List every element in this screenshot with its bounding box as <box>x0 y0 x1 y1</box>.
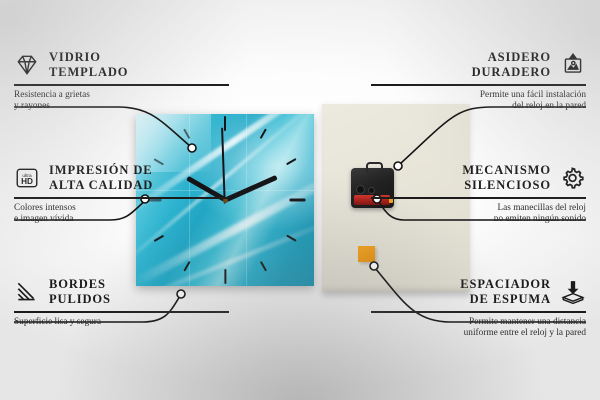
diamond-icon <box>14 52 40 78</box>
foam-spacer-pad <box>358 246 375 262</box>
feature-description: Colores intensos e imagen vívida <box>14 203 229 226</box>
feature-title-line2: PULIDOS <box>49 292 111 307</box>
feature-mecanismo-silencioso: MECANISMO SILENCIOSO Las manecillas del … <box>371 163 586 226</box>
feature-espaciador-de-espuma: ESPACIADOR DE ESPUMA Permite mantener un… <box>371 277 586 340</box>
feature-divider <box>14 311 229 313</box>
polished-edges-icon <box>14 279 40 305</box>
mechanism-knob <box>356 185 365 194</box>
feature-desc-line1: Colores intensos <box>14 203 229 215</box>
feature-asidero-duradero: ASIDERO DURADERO Permite una fácil insta… <box>371 50 586 113</box>
feature-title: VIDRIO TEMPLADO <box>49 50 128 80</box>
feature-title: BORDES PULIDOS <box>49 277 111 307</box>
clock-tick <box>224 116 226 131</box>
feature-desc-line1: Superficie lisa y segura <box>14 317 229 329</box>
feature-header: ESPACIADOR DE ESPUMA <box>371 277 586 307</box>
foam-spacer-icon <box>560 279 586 305</box>
feature-title-line2: SILENCIOSO <box>462 178 551 193</box>
svg-text:HD: HD <box>21 177 33 186</box>
feature-title: ESPACIADOR DE ESPUMA <box>460 277 551 307</box>
feature-desc-line2: e imagen vívida <box>14 214 229 226</box>
feature-header: ASIDERO DURADERO <box>371 50 586 80</box>
feature-title-line2: DURADERO <box>472 65 551 80</box>
feature-desc-line2: del reloj en la pared <box>371 101 586 113</box>
feature-header: VIDRIO TEMPLADO <box>14 50 229 80</box>
clock-minute-hand <box>224 175 277 202</box>
infographic-canvas: VIDRIO TEMPLADO Resistencia a grietas y … <box>0 0 600 400</box>
feature-title-line2: TEMPLADO <box>49 65 128 80</box>
feature-impresion-alta-calidad: ultra HD IMPRESIÓN DE ALTA CALIDAD Color… <box>14 163 229 226</box>
feature-title-line1: BORDES <box>49 277 111 292</box>
feature-description: Permite mantener una distancia uniforme … <box>371 317 586 340</box>
feature-description: Resistencia a grietas y rayones <box>14 90 229 113</box>
feature-title-line1: IMPRESIÓN DE <box>49 163 153 178</box>
feature-title-line1: ASIDERO <box>472 50 551 65</box>
feature-desc-line1: Las manecillas del reloj <box>371 203 586 215</box>
feature-divider <box>371 84 586 86</box>
feature-bordes-pulidos: BORDES PULIDOS Superficie lisa y segura <box>14 277 229 328</box>
feature-header: BORDES PULIDOS <box>14 277 229 307</box>
feature-title-line1: VIDRIO <box>49 50 128 65</box>
feature-desc-line2: uniforme entre el reloj y la pared <box>371 328 586 340</box>
feature-vidrio-templado: VIDRIO TEMPLADO Resistencia a grietas y … <box>14 50 229 113</box>
feature-desc-line2: no emiten ningún sonido <box>371 214 586 226</box>
feature-title-line2: ALTA CALIDAD <box>49 178 153 193</box>
feature-title: MECANISMO SILENCIOSO <box>462 163 551 193</box>
feature-divider <box>14 84 229 86</box>
feature-description: Superficie lisa y segura <box>14 317 229 329</box>
feature-header: MECANISMO SILENCIOSO <box>371 163 586 193</box>
feature-divider <box>14 197 229 199</box>
feature-title-line1: ESPACIADOR <box>460 277 551 292</box>
feature-desc-line2: y rayones <box>14 101 229 113</box>
feature-desc-line1: Permite mantener una distancia <box>371 317 586 329</box>
feature-title: IMPRESIÓN DE ALTA CALIDAD <box>49 163 153 193</box>
clock-tick <box>260 128 267 139</box>
clock-tick <box>286 158 297 165</box>
clock-tick <box>289 199 305 202</box>
picture-hanger-icon <box>560 52 586 78</box>
feature-desc-line1: Permite una fácil instalación <box>371 90 586 102</box>
gear-icon <box>560 165 586 191</box>
feature-description: Las manecillas del reloj no emiten ningú… <box>371 203 586 226</box>
feature-title-line2: DE ESPUMA <box>460 292 551 307</box>
ultra-hd-icon: ultra HD <box>14 165 40 191</box>
feature-divider <box>371 311 586 313</box>
glass-reflection-line <box>246 114 247 286</box>
feature-header: ultra HD IMPRESIÓN DE ALTA CALIDAD <box>14 163 229 193</box>
feature-title: ASIDERO DURADERO <box>472 50 551 80</box>
feature-desc-line1: Resistencia a grietas <box>14 90 229 102</box>
clock-tick <box>260 261 267 272</box>
feature-description: Permite una fácil instalación del reloj … <box>371 90 586 113</box>
feature-title-line1: MECANISMO <box>462 163 551 178</box>
feature-divider <box>371 197 586 199</box>
